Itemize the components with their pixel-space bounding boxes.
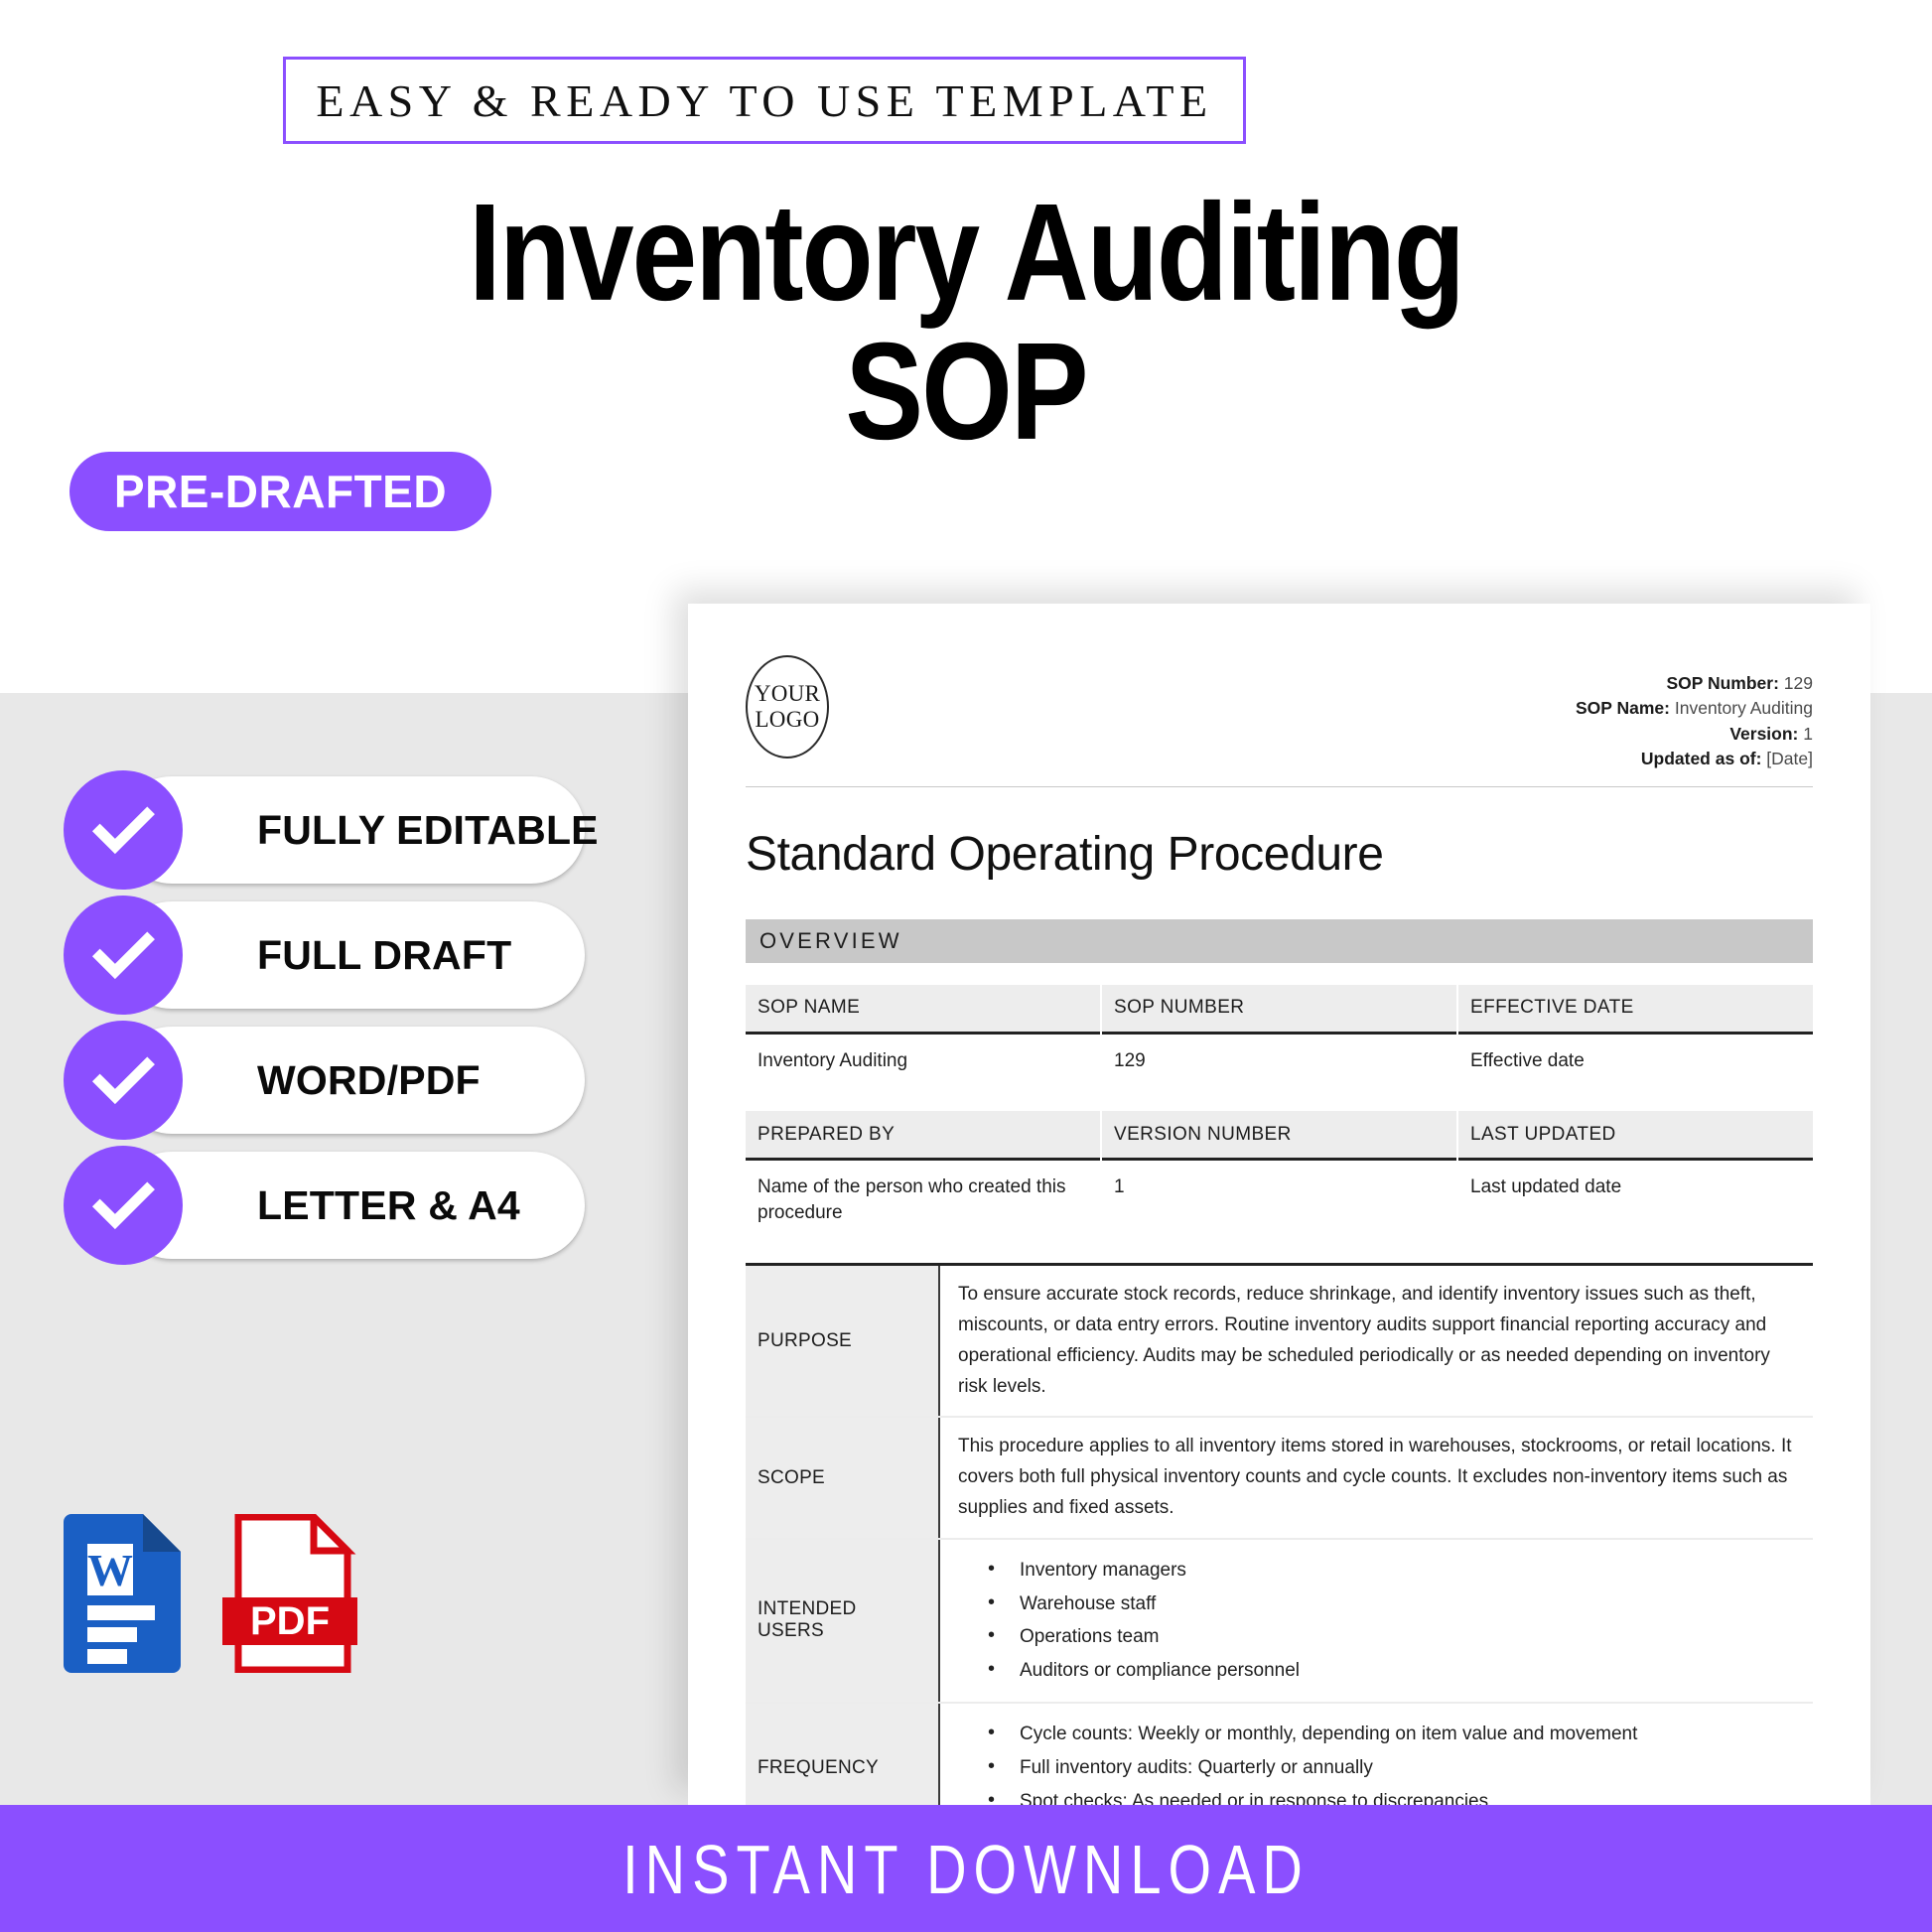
listing-image: EASY & READY TO USE TEMPLATE Inventory A… bbox=[0, 0, 1932, 1932]
check-icon bbox=[64, 1146, 183, 1265]
section-title: OVERVIEW bbox=[759, 928, 902, 954]
column-value: 1 bbox=[1102, 1161, 1456, 1200]
check-icon bbox=[64, 1021, 183, 1140]
column-header: VERSION NUMBER bbox=[1102, 1111, 1456, 1161]
meta-row: SOP Number: 129 bbox=[1576, 671, 1813, 696]
bullet-item: Operations team bbox=[958, 1620, 1795, 1654]
info-column: VERSION NUMBER 1 bbox=[1102, 1111, 1456, 1225]
overview-table-row-1: SOP NAME Inventory Auditing SOP NUMBER 1… bbox=[746, 985, 1813, 1074]
page-title: Inventory Auditing SOP bbox=[0, 184, 1932, 440]
bullet-item: Warehouse staff bbox=[958, 1587, 1795, 1621]
meta-label: Updated as of: bbox=[1641, 749, 1762, 768]
feature-label: FULLY EDITABLE bbox=[257, 807, 599, 854]
row-value: To ensure accurate stock records, reduce… bbox=[940, 1266, 1813, 1416]
title-line-1: Inventory Auditing bbox=[0, 184, 1932, 322]
list-item: WORD/PDF bbox=[64, 1021, 600, 1146]
pdf-file-icon: PDF bbox=[220, 1514, 359, 1673]
ribbon-text: EASY & READY TO USE TEMPLATE bbox=[316, 74, 1212, 127]
feature-checklist: FULLY EDITABLE FULL DRAFT WORD/PDF bbox=[64, 770, 600, 1271]
bullet-list: Cycle counts: Weekly or monthly, dependi… bbox=[958, 1718, 1795, 1805]
svg-text:W: W bbox=[87, 1545, 133, 1595]
row-key: INTENDED USERS bbox=[746, 1540, 940, 1702]
feature-bar: FULL DRAFT bbox=[118, 901, 585, 1009]
list-item: FULLY EDITABLE bbox=[64, 770, 600, 896]
feature-label: FULL DRAFT bbox=[257, 932, 511, 979]
table-row: INTENDED USERS Inventory managers Wareho… bbox=[746, 1540, 1813, 1704]
bullet-list: Inventory managers Warehouse staff Opera… bbox=[958, 1554, 1795, 1688]
column-value: Effective date bbox=[1458, 1035, 1813, 1074]
feature-bar: LETTER & A4 bbox=[118, 1152, 585, 1259]
pre-drafted-badge: PRE-DRAFTED bbox=[69, 452, 491, 531]
pre-drafted-label: PRE-DRAFTED bbox=[114, 465, 447, 518]
table-row: SCOPE This procedure applies to all inve… bbox=[746, 1418, 1813, 1539]
feature-label: WORD/PDF bbox=[257, 1057, 481, 1104]
document-title: Standard Operating Procedure bbox=[746, 827, 1813, 882]
row-key: PURPOSE bbox=[746, 1266, 940, 1416]
table-row: PURPOSE To ensure accurate stock records… bbox=[746, 1266, 1813, 1418]
bullet-item: Inventory managers bbox=[958, 1554, 1795, 1587]
header-divider bbox=[746, 786, 1813, 787]
detail-table: PURPOSE To ensure accurate stock records… bbox=[746, 1263, 1813, 1805]
check-icon bbox=[64, 770, 183, 890]
meta-label: SOP Number: bbox=[1666, 673, 1778, 693]
overview-table-row-2: PREPARED BY Name of the person who creat… bbox=[746, 1111, 1813, 1225]
meta-label: SOP Name: bbox=[1576, 698, 1670, 718]
feature-label: LETTER & A4 bbox=[257, 1182, 520, 1229]
row-value: This procedure applies to all inventory … bbox=[940, 1418, 1813, 1537]
table-row: FREQUENCY Cycle counts: Weekly or monthl… bbox=[746, 1704, 1813, 1805]
info-column: EFFECTIVE DATE Effective date bbox=[1458, 985, 1813, 1074]
file-format-icons: W PDF bbox=[64, 1514, 359, 1673]
info-column: SOP NAME Inventory Auditing bbox=[746, 985, 1100, 1074]
list-item: FULL DRAFT bbox=[64, 896, 600, 1021]
feature-bar: WORD/PDF bbox=[118, 1027, 585, 1134]
bullet-item: Spot checks: As needed or in response to… bbox=[958, 1785, 1795, 1805]
meta-value: [Date] bbox=[1766, 749, 1813, 768]
meta-row: Updated as of: [Date] bbox=[1576, 747, 1813, 771]
column-value: Inventory Auditing bbox=[746, 1035, 1100, 1074]
row-key: SCOPE bbox=[746, 1418, 940, 1537]
column-header: SOP NAME bbox=[746, 985, 1100, 1035]
meta-row: Version: 1 bbox=[1576, 722, 1813, 747]
column-header: SOP NUMBER bbox=[1102, 985, 1456, 1035]
document-meta: SOP Number: 129 SOP Name: Inventory Audi… bbox=[1576, 655, 1813, 772]
bullet-item: Full inventory audits: Quarterly or annu… bbox=[958, 1751, 1795, 1785]
meta-row: SOP Name: Inventory Auditing bbox=[1576, 696, 1813, 721]
instant-download-banner: INSTANT DOWNLOAD bbox=[0, 1805, 1932, 1932]
title-line-2: SOP bbox=[0, 323, 1932, 461]
info-column: LAST UPDATED Last updated date bbox=[1458, 1111, 1813, 1225]
section-header-overview: OVERVIEW bbox=[746, 919, 1813, 963]
meta-value: 1 bbox=[1803, 724, 1813, 744]
logo-line-1: YOUR bbox=[755, 681, 820, 707]
meta-value: Inventory Auditing bbox=[1675, 698, 1813, 718]
bullet-item: Auditors or compliance personnel bbox=[958, 1654, 1795, 1688]
word-file-icon: W bbox=[64, 1514, 181, 1673]
column-value: Name of the person who created this proc… bbox=[746, 1161, 1100, 1225]
row-value: Cycle counts: Weekly or monthly, dependi… bbox=[940, 1704, 1813, 1805]
banner-text: INSTANT DOWNLOAD bbox=[622, 1828, 1310, 1908]
meta-label: Version: bbox=[1729, 724, 1798, 744]
feature-bar: FULLY EDITABLE bbox=[118, 776, 585, 884]
column-header: LAST UPDATED bbox=[1458, 1111, 1813, 1161]
logo-line-2: LOGO bbox=[755, 707, 819, 733]
template-ribbon: EASY & READY TO USE TEMPLATE bbox=[283, 57, 1246, 144]
column-value: 129 bbox=[1102, 1035, 1456, 1074]
column-header: EFFECTIVE DATE bbox=[1458, 985, 1813, 1035]
bullet-item: Cycle counts: Weekly or monthly, dependi… bbox=[958, 1718, 1795, 1751]
row-value: Inventory managers Warehouse staff Opera… bbox=[940, 1540, 1813, 1702]
check-icon bbox=[64, 896, 183, 1015]
column-header: PREPARED BY bbox=[746, 1111, 1100, 1161]
column-value: Last updated date bbox=[1458, 1161, 1813, 1200]
logo-placeholder: YOUR LOGO bbox=[746, 655, 829, 759]
row-key: FREQUENCY bbox=[746, 1704, 940, 1805]
document-header: YOUR LOGO SOP Number: 129 SOP Name: Inve… bbox=[746, 655, 1813, 772]
info-column: SOP NUMBER 129 bbox=[1102, 985, 1456, 1074]
info-column: PREPARED BY Name of the person who creat… bbox=[746, 1111, 1100, 1225]
svg-text:PDF: PDF bbox=[250, 1599, 330, 1643]
list-item: LETTER & A4 bbox=[64, 1146, 600, 1271]
meta-value: 129 bbox=[1784, 673, 1813, 693]
document-preview: YOUR LOGO SOP Number: 129 SOP Name: Inve… bbox=[688, 604, 1870, 1805]
